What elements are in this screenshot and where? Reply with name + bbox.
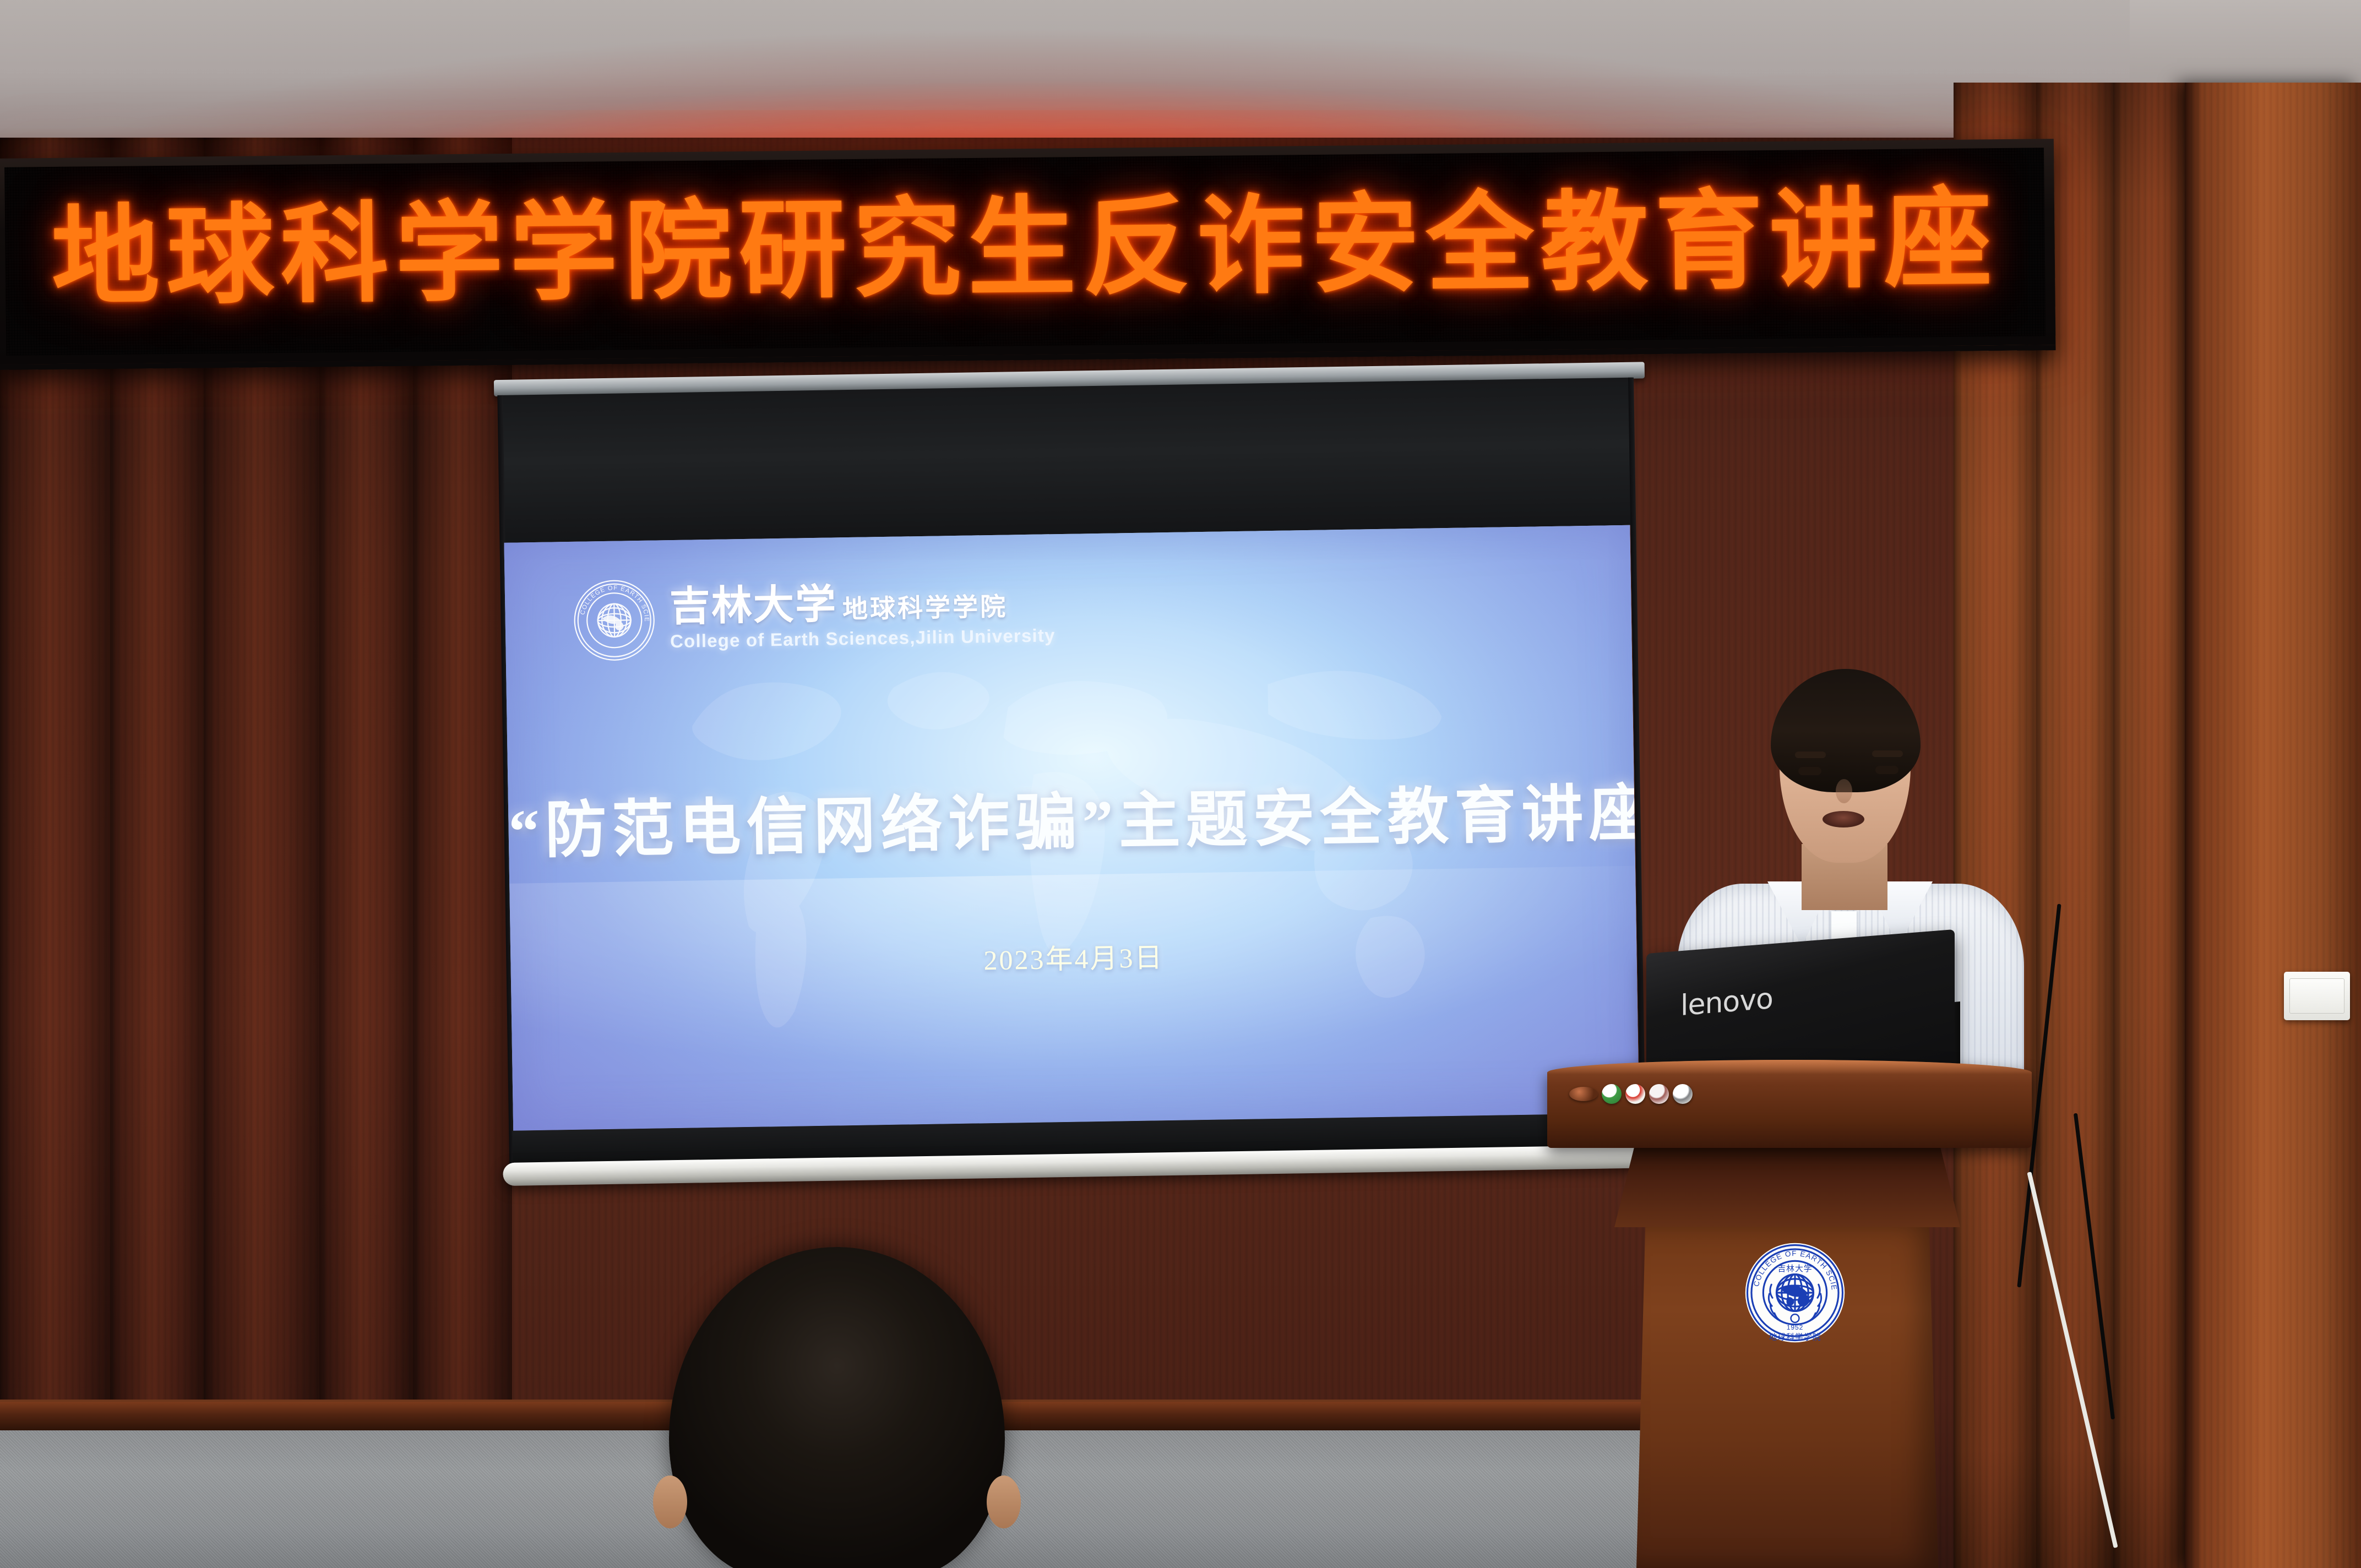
- lectern-neck: [1614, 1144, 1960, 1227]
- slide-logo-lockup: COLLEGE OF EARTH SCIENCES 吉林大学 地球科学学院 Co…: [572, 573, 1056, 663]
- slide-content: COLLEGE OF EARTH SCIENCES 吉林大学 地球科学学院 Co…: [504, 525, 1639, 1131]
- led-marquee-text: 地球科学学院研究生反诈安全教育讲座: [51, 185, 1999, 312]
- lectern-jlu-earth-sciences-seal-icon: 1952 COLLEGE OF EARTH SCIENCES 吉林大学 地球科学…: [1744, 1242, 1846, 1344]
- badge-wood-oval: [1569, 1087, 1598, 1101]
- lectern: 1952 COLLEGE OF EARTH SCIENCES 吉林大学 地球科学…: [1547, 1060, 2043, 1568]
- audience-ear-right: [987, 1476, 1021, 1528]
- slide-logo-english: College of Earth Sciences,Jilin Universi…: [670, 625, 1056, 652]
- lectern-badge-row: [1569, 1084, 1693, 1104]
- presenter-nose: [1836, 779, 1852, 803]
- presenter-eye-right: [1875, 766, 1898, 774]
- wall-right-column: [2185, 83, 2361, 1568]
- wall-light-switch[interactable]: [2284, 972, 2350, 1020]
- slide-logo-chinese: 吉林大学 地球科学学院: [669, 581, 1055, 628]
- jlu-earth-sciences-seal-icon: COLLEGE OF EARTH SCIENCES: [572, 579, 656, 662]
- wood-grain-texture-column: [2185, 83, 2361, 1568]
- screen-black-header-band: [498, 378, 1635, 543]
- presenter-eye-left: [1798, 767, 1821, 775]
- presenter-mouth: [1823, 811, 1864, 827]
- badge-red: [1625, 1084, 1645, 1104]
- seal-college: 地球科学学院: [1769, 1332, 1821, 1342]
- lectern-top-surface: [1547, 1060, 2032, 1148]
- audience-ear-left: [653, 1476, 687, 1528]
- led-panel: 地球科学学院研究生反诈安全教育讲座: [4, 148, 2046, 356]
- slide-date: 2023年4月3日: [510, 928, 1637, 985]
- screen-projection-surface: COLLEGE OF EARTH SCIENCES 吉林大学 地球科学学院 Co…: [504, 525, 1639, 1131]
- slide-university-name: 吉林大学: [669, 585, 837, 628]
- lecture-hall-photo: 地球科学学院研究生反诈安全教育讲座: [0, 0, 2361, 1568]
- presenter-hair: [1771, 669, 1921, 792]
- badge-grey: [1673, 1084, 1693, 1104]
- seal-university: 吉林大学: [1777, 1264, 1812, 1273]
- projection-screen: COLLEGE OF EARTH SCIENCES 吉林大学 地球科学学院 Co…: [498, 368, 1646, 1222]
- badge-maroon: [1649, 1084, 1669, 1104]
- slide-college-name: 地球科学学院: [842, 595, 1008, 623]
- laptop-brand-label: lenovo: [1680, 982, 1773, 1022]
- badge-green: [1602, 1084, 1622, 1104]
- seal-year: 1952: [1787, 1324, 1804, 1331]
- led-marquee-sign: 地球科学学院研究生反诈安全教育讲座: [0, 139, 2056, 370]
- presenter-eyebrow-left: [1795, 752, 1826, 758]
- slide-title: “防范电信网络诈骗”主题安全教育讲座: [508, 763, 1635, 870]
- presenter-eyebrow-right: [1872, 750, 1903, 757]
